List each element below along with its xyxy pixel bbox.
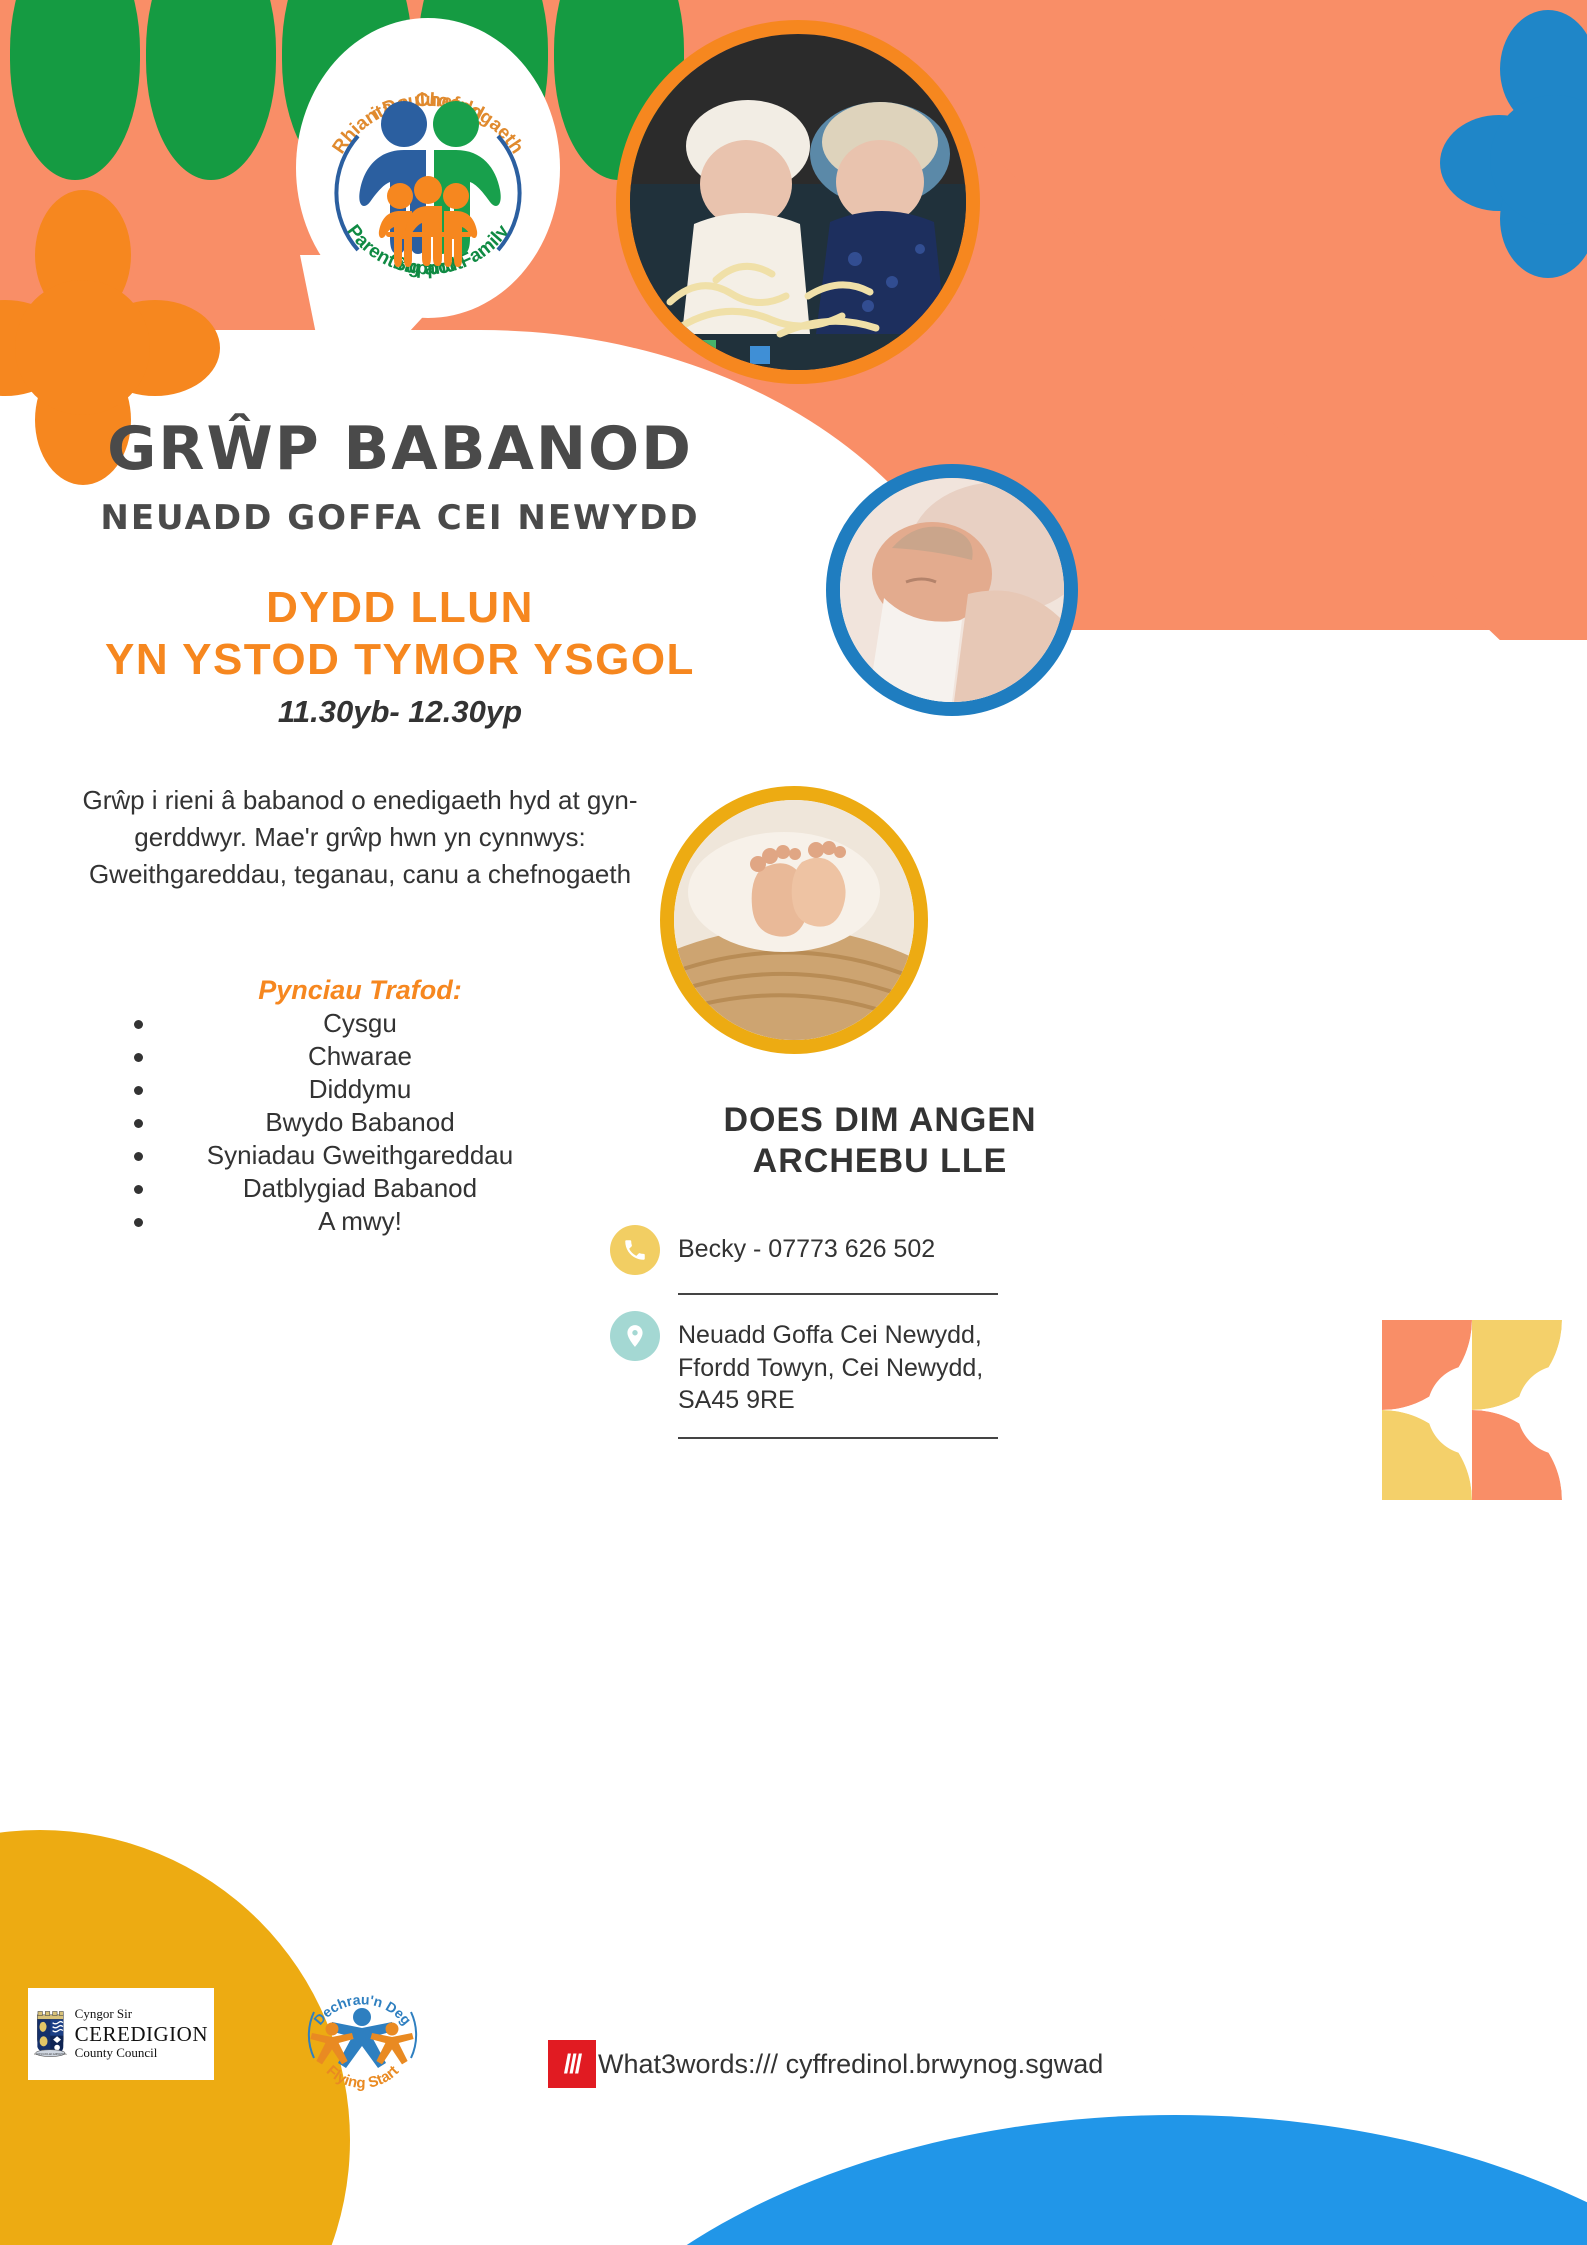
- list-item-label: Diddymu: [309, 1074, 412, 1104]
- schedule-day-line2: YN YSTOD TYMOR YSGOL: [0, 634, 800, 686]
- list-item: Syniadau Gweithgareddau: [60, 1140, 660, 1173]
- address-line-1: Neuadd Goffa Cei Newydd,: [678, 1321, 982, 1349]
- photo-baby-feet: [660, 786, 928, 1054]
- council-line-3: County Council: [75, 2045, 158, 2060]
- bullet-icon: [134, 1119, 143, 1128]
- flying-start-logo: Dechrau'n Deg Flying Start: [300, 1972, 425, 2097]
- bullet-icon: [134, 1086, 143, 1095]
- list-item-label: Cysgu: [323, 1008, 397, 1038]
- photo-babies-playing: [616, 20, 980, 384]
- no-booking-line2: ARCHEBU LLE: [620, 1141, 1140, 1182]
- bullet-icon: [134, 1020, 143, 1029]
- svg-text:GOLEUGWLAD ADEILEDIG: GOLEUGWLAD ADEILEDIG: [34, 2053, 67, 2056]
- council-line-2: CEREDIGION: [75, 2022, 208, 2046]
- blue-blob-decoration: [1440, 10, 1587, 240]
- ceredigion-council-logo: GOLEUGWLAD ADEILEDIG Cyngor Sir CEREDIGI…: [28, 1988, 214, 2080]
- list-item-label: Syniadau Gweithgareddau: [207, 1140, 513, 1170]
- schedule-day: DYDD LLUN YN YSTOD TYMOR YSGOL: [0, 582, 800, 686]
- list-item: A mwy!: [60, 1206, 660, 1239]
- list-item-label: Bwydo Babanod: [265, 1107, 454, 1137]
- parenting-family-support-logo: Rhianta a Chefnogaeth i Deuluoedd Parent…: [296, 18, 560, 318]
- contact-block: Becky - 07773 626 502 Neuadd Goffa Cei N…: [610, 1225, 1170, 1439]
- list-item: Diddymu: [60, 1074, 660, 1107]
- council-crest-icon: GOLEUGWLAD ADEILEDIG: [34, 1994, 67, 2074]
- phone-icon: [610, 1225, 660, 1275]
- schedule-time: 11.30yb- 12.30yp: [0, 694, 800, 730]
- schedule-day-line1: DYDD LLUN: [0, 582, 800, 634]
- list-item-label: A mwy!: [318, 1206, 402, 1236]
- address-line-2: Ffordd Towyn, Cei Newydd,: [678, 1354, 983, 1382]
- what3words-row[interactable]: /// What3words:/// cyffredinol.brwynog.s…: [548, 2040, 1103, 2088]
- poster-root: Rhianta a Chefnogaeth i Deuluoedd Parent…: [0, 0, 1587, 2245]
- council-logo-text: Cyngor Sir CEREDIGION County Council: [75, 2006, 208, 2063]
- list-item: Cysgu: [60, 1008, 660, 1041]
- topics-heading: Pynciau Trafod:: [60, 975, 660, 1006]
- list-item: Chwarae: [60, 1041, 660, 1074]
- list-item-label: Chwarae: [308, 1041, 412, 1071]
- description-text: Grŵp i rieni â babanod o enedigaeth hyd …: [60, 782, 660, 893]
- bullet-icon: [134, 1185, 143, 1194]
- list-item-label: Datblygiad Babanod: [243, 1173, 477, 1203]
- contact-divider: [678, 1293, 998, 1295]
- location-pin-icon: [610, 1311, 660, 1361]
- what3words-text: What3words:/// cyffredinol.brwynog.sgwad: [598, 2049, 1103, 2080]
- topics-list: Cysgu Chwarae Diddymu Bwydo Babanod Syni…: [60, 1008, 660, 1239]
- arc-pattern-decoration: [1382, 1320, 1562, 1500]
- no-booking-required-heading: DOES DIM ANGEN ARCHEBU LLE: [620, 1100, 1140, 1183]
- photo-newborn-sleeping: [826, 464, 1078, 716]
- no-booking-line1: DOES DIM ANGEN: [620, 1100, 1140, 1141]
- contact-address-row[interactable]: Neuadd Goffa Cei Newydd, Ffordd Towyn, C…: [610, 1311, 1170, 1427]
- bullet-icon: [134, 1152, 143, 1161]
- bullet-icon: [134, 1218, 143, 1227]
- page-title: GRŴP BABANOD: [0, 414, 800, 484]
- venue-subtitle: NEUADD GOFFA CEI NEWYDD: [0, 498, 800, 538]
- council-line-1: Cyngor Sir: [75, 2006, 132, 2021]
- contact-phone-text: Becky - 07773 626 502: [678, 1225, 935, 1266]
- address-line-3: SA45 9RE: [678, 1386, 795, 1414]
- contact-phone-row[interactable]: Becky - 07773 626 502: [610, 1225, 1170, 1285]
- contact-divider-2: [678, 1437, 998, 1439]
- what3words-icon: ///: [548, 2040, 596, 2088]
- contact-address-text: Neuadd Goffa Cei Newydd, Ffordd Towyn, C…: [678, 1311, 983, 1417]
- bullet-icon: [134, 1053, 143, 1062]
- list-item: Datblygiad Babanod: [60, 1173, 660, 1206]
- list-item: Bwydo Babanod: [60, 1107, 660, 1140]
- svg-text:Flying Start: Flying Start: [323, 2062, 402, 2092]
